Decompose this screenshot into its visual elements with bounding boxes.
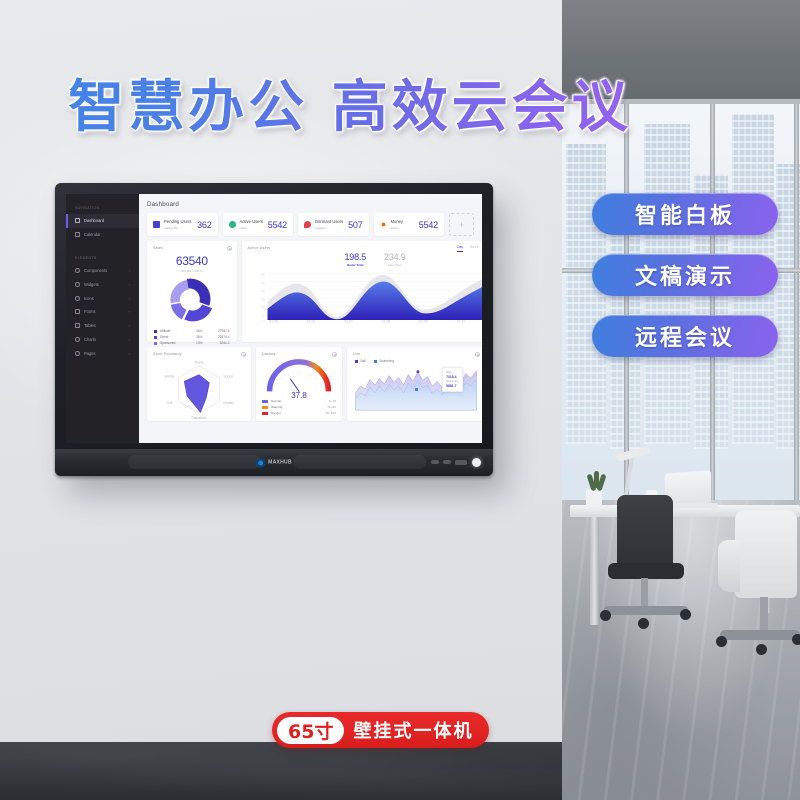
svg-text:100: 100 [261,307,264,309]
tab-week[interactable]: Week [470,245,478,252]
page-icon [75,351,80,356]
stat-title: Pending Users [164,219,191,224]
card-title: Sport Popularity [153,352,245,356]
chart-range-tabs: Day Week Month [457,245,482,252]
interactive-flat-panel: NAVIGATION Dashboard Calendar ELEMENTS C… [55,183,493,476]
svg-text:Basketball: Basketball [192,416,207,419]
chevron-right-icon: › [129,282,130,287]
grid-icon [75,268,80,273]
active-users-totals: 198.5 Boiler Total 234.9 Flow Total [248,252,482,267]
sidebar-section-elements: ELEMENTS [66,251,139,264]
legend-amount: 8260.2 [220,341,230,345]
card-title: Active Users [248,246,482,250]
badge-screen-size: 65寸 [277,717,344,744]
legend-name: Normal [271,399,281,403]
svg-text:0: 0 [263,320,264,322]
stat-title: Dormant Users [315,219,343,224]
floor-left [0,742,562,800]
speaker-grille-left [128,455,261,469]
chevron-right-icon: › [129,268,130,273]
tv-bezel-bottom: MAXHUB [55,449,493,476]
chart-tooltip: Ball 7318.4 Swimming 5881.7 [442,367,463,392]
sidebar-item-pages[interactable]: Pages › [66,346,139,360]
flow-total-value: 234.9 [384,252,406,262]
svg-text:01-08: 01-08 [381,319,390,322]
sidebar-item-tables[interactable]: Tables › [66,319,139,333]
office-chair-light [735,510,797,598]
sidebar-item-forms[interactable]: Forms › [66,305,139,319]
office-chair-dark [617,495,673,569]
coin-icon [380,221,387,228]
legend-swatch [262,400,268,403]
sidebar-item-components[interactable]: Components › [66,264,139,278]
speaker-grille-right [293,455,426,469]
feature-pill-whiteboard[interactable]: 智能白板 [592,193,778,235]
svg-text:01-09: 01-09 [419,319,428,322]
star-icon [75,296,80,301]
stat-value: 5542 [268,220,287,230]
stat-card-money[interactable]: Money dollars 5542 [374,213,445,236]
sidebar-item-icons[interactable]: Icons › [66,291,139,305]
legend-amount: 22874.4 [218,335,230,339]
gauge-chart [262,357,336,395]
tv-screen: NAVIGATION Dashboard Calendar ELEMENTS C… [66,194,482,443]
legend-swatch [355,360,358,363]
sales-more-info[interactable]: MORE INFO [153,269,231,273]
heart-icon [304,221,311,228]
logo-text: MAXHUB [268,460,292,465]
chevron-right-icon: › [129,337,130,342]
sidebar-item-calendar[interactable]: Calendar [66,228,139,242]
sidebar-item-widgets[interactable]: Widgets › [66,277,139,291]
sales-card: Sales 63540 MORE INFO [147,241,237,342]
sidebar-item-label: Calendar [84,232,101,237]
gear-icon[interactable] [241,352,246,357]
badge-mount-type: 壁挂式一体机 [353,717,473,743]
stat-card-pending-users[interactable]: Pending Users waiting 45s 362 [147,213,218,236]
sidebar-item-label: Forms [84,309,96,314]
tab-day[interactable]: Day [457,245,463,252]
plant [586,489,602,507]
legend-pct: 13% [196,341,218,345]
stat-value: 362 [197,220,211,230]
legend-range: 70~90 [327,405,336,409]
dashboard-main: Dashboard Pending Users waiting 45s 362 [139,194,482,443]
active-users-card: Active Users Day Week Month 198.5 Boiler… [242,241,482,342]
chevron-right-icon: › [129,309,130,314]
svg-text:250: 250 [261,282,264,284]
svg-text:50: 50 [262,315,264,317]
legend-name: Danger [271,411,281,415]
line-card: Line Ball Swimming [347,347,482,421]
legend-range: 0~70 [329,399,336,403]
stat-subtitle: undefine [315,226,326,230]
product-badge: 65寸 壁挂式一体机 [272,712,489,748]
legend-swatch [262,412,268,415]
gear-icon[interactable] [475,352,480,357]
sidebar-item-dashboard[interactable]: Dashboard [66,214,139,228]
svg-text:Soccer: Soccer [223,375,234,379]
sales-donut-chart [153,276,231,324]
legend-amount: 27957.6 [218,329,230,333]
legend-item-ball: Ball [355,359,366,363]
line-legend: Ball Swimming [355,359,479,363]
sport-popularity-card: Sport Popularity Tennis So [147,347,251,421]
stat-subtitle: dollars [391,226,399,230]
tooltip-value-swimming: 5881.7 [446,384,458,389]
boiler-total-label: Boiler Total [345,263,367,267]
chevron-right-icon: › [129,323,130,328]
sidebar-item-label: Components [84,268,107,273]
legend-name: Ball [361,359,366,363]
port-usb-2 [443,460,451,464]
sidebar-item-charts[interactable]: Charts › [66,332,139,346]
port-usb-1 [431,460,439,464]
sidebar-item-label: Pages [84,351,96,356]
sales-total-value: 63540 [153,254,231,268]
legend-name: Swimming [379,359,394,363]
svg-text:300: 300 [261,274,264,276]
form-icon [75,309,80,314]
gauge-legend: Normal 0~70 Warning 70~90 Danger [262,398,336,416]
svg-text:01-07: 01-07 [344,319,353,322]
stat-subtitle: waiting 45s [164,226,178,230]
svg-text:Tennis: Tennis [194,361,204,365]
widget-icon [75,282,80,287]
logo-mark-icon [256,458,265,467]
sidebar-item-label: Widgets [84,282,99,287]
legend-name: Sponsored [160,341,196,345]
page-title: Dashboard [147,201,474,208]
legend-swatch [154,336,157,339]
home-icon [75,218,80,223]
chart-row-2: Sport Popularity Tennis So [147,347,474,421]
chevron-right-icon: › [129,351,130,356]
stat-card-dormant-users[interactable]: Dormant Users undefine 507 [298,213,369,236]
legend-name: Affiliate [160,329,196,333]
feature-pill-list: 智能白板 文稿演示 远程会议 [592,193,778,376]
brand-logo: MAXHUB [256,458,292,467]
stat-title: Active Users [240,219,264,224]
gear-icon[interactable] [332,352,337,357]
svg-text:01-06: 01-06 [306,319,315,322]
chevron-right-icon: › [129,296,130,301]
stat-value: 507 [348,220,362,230]
svg-text:200: 200 [261,290,264,292]
calendar-icon [75,232,80,237]
legend-swatch [154,342,157,345]
stat-value: 5542 [419,220,438,230]
sidebar-item-label: Tables [84,323,96,328]
chart-row-1: Sales 63540 MORE INFO [147,241,474,342]
gear-icon[interactable] [227,246,232,251]
legend-swatch [262,406,268,409]
sidebar-item-label: Icons [84,296,94,301]
sidebar-section-navigation: NAVIGATION [66,201,139,214]
svg-text:01-10: 01-10 [456,319,465,322]
legend-item-swimming: Swimming [374,359,394,363]
sidebar-item-label: Dashboard [84,218,104,223]
feature-pill-remote-meeting[interactable]: 远程会议 [592,315,778,357]
boiler-total-value: 198.5 [345,252,367,262]
legend-swatch [374,360,377,363]
chart-icon [75,337,80,342]
feature-pill-presentation[interactable]: 文稿演示 [592,254,778,296]
legend-name: Warning [271,405,282,409]
cloud-icon [229,221,236,228]
card-title: Line [353,352,479,356]
card-title: Sales [153,246,231,250]
legend-row: Danger 90~100 [262,410,336,416]
sidebar: NAVIGATION Dashboard Calendar ELEMENTS C… [66,194,139,443]
flow-total-label: Flow Total [384,263,406,267]
stat-card-active-users[interactable]: Active Users online 5542 [223,213,294,236]
stat-title: Money [391,219,404,224]
stat-card-row: Pending Users waiting 45s 362 Active Use… [147,213,474,236]
sport-radar-chart: Tennis Soccer Hockey Basketball Golf Hob… [153,357,245,419]
svg-text:Golf: Golf [167,401,173,405]
svg-text:150: 150 [261,298,264,300]
svg-text:Hobby: Hobby [165,375,175,379]
svg-text:Hockey: Hockey [223,401,234,405]
active-users-area-chart: 300250 200150 10050 0 01-0501-06 01-0701… [248,269,482,324]
legend-pct: 36% [196,335,218,339]
legend-pct: 44% [196,329,218,333]
table-icon [75,323,80,328]
stat-subtitle: online [240,226,247,230]
gauge-card: Dashes [256,347,342,421]
legend-name: Direct [160,335,196,339]
port-hdmi [455,460,467,465]
svg-text:01-05: 01-05 [269,319,278,322]
power-button[interactable] [472,458,481,467]
sidebar-item-label: Charts [84,337,96,342]
dashboard-app: NAVIGATION Dashboard Calendar ELEMENTS C… [66,194,482,443]
legend-range: 90~100 [326,411,336,415]
bookmark-icon [153,221,160,228]
card-title: Dashes [262,352,336,356]
legend-swatch [154,330,157,333]
page-headline: 智慧办公 高效云会议 [0,62,700,143]
add-card-button[interactable]: + [449,213,474,236]
